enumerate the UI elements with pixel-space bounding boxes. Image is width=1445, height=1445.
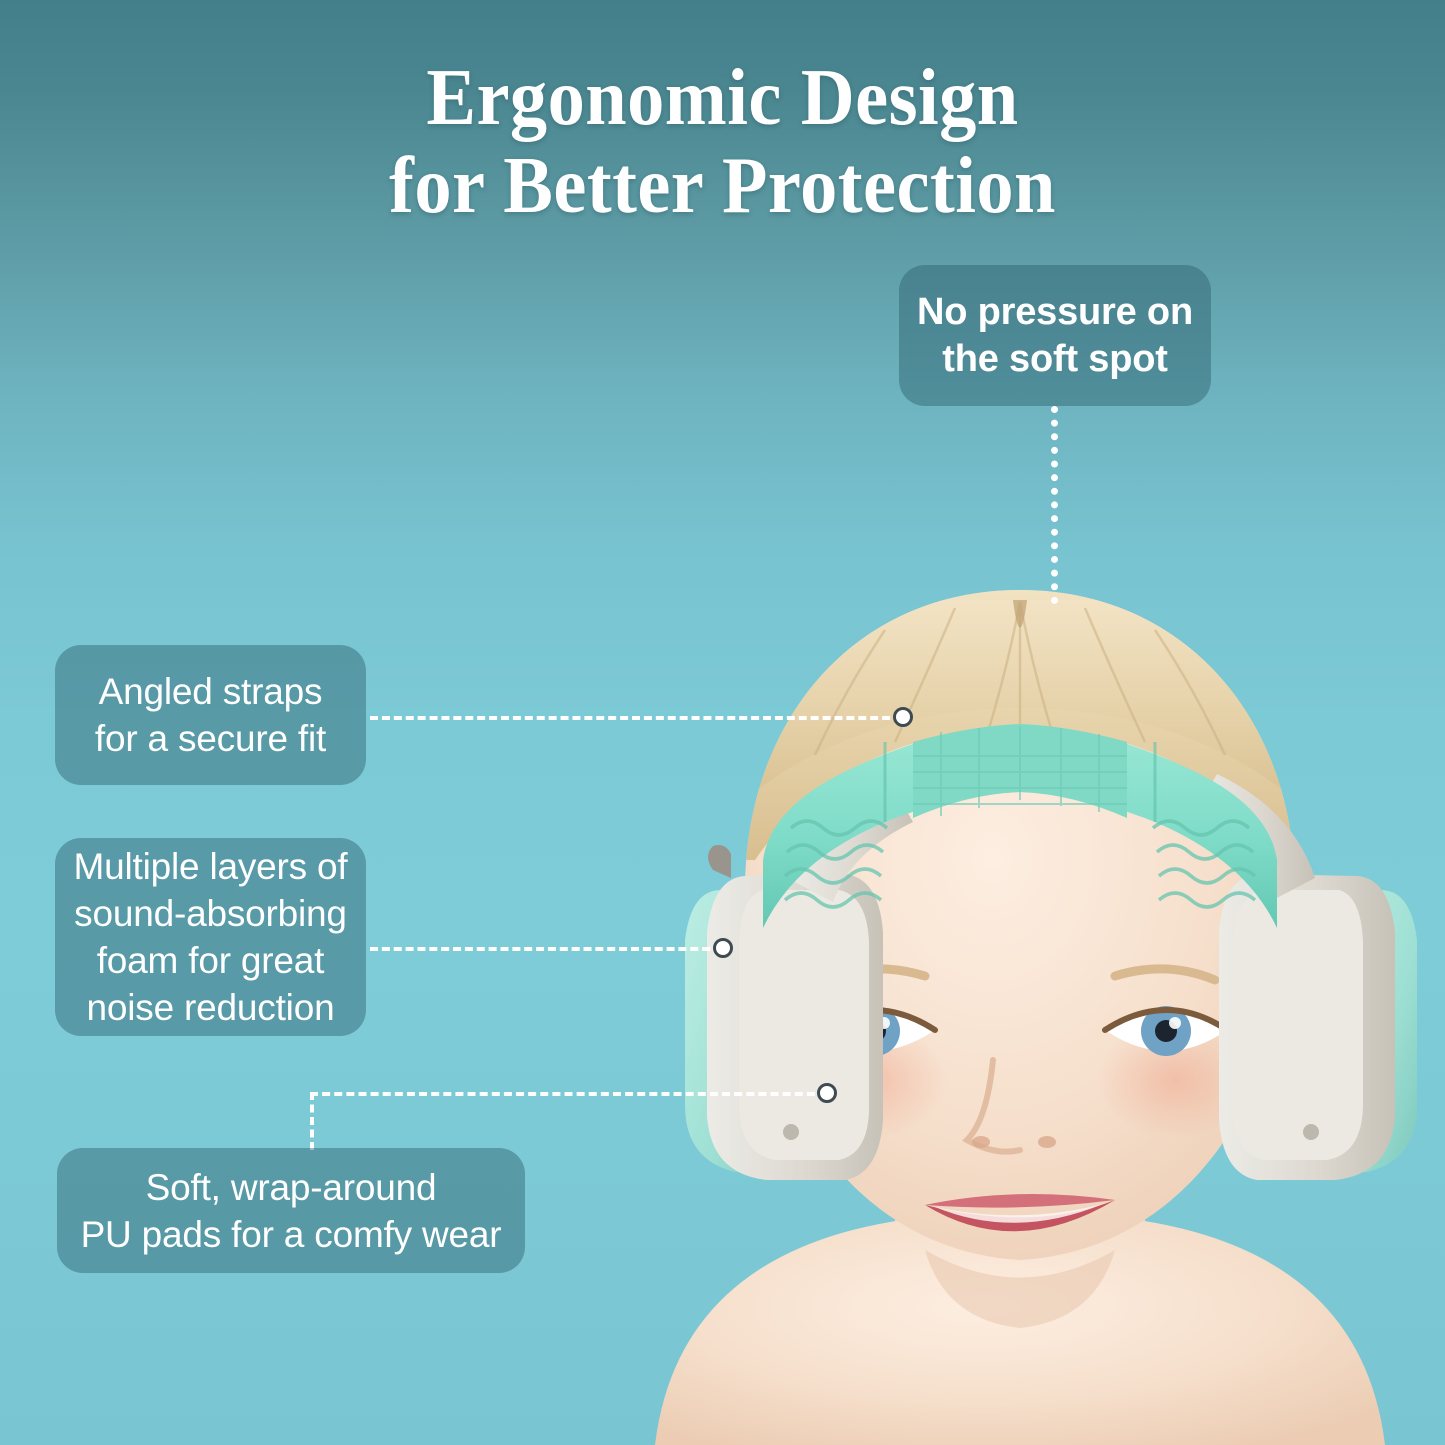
callout-sound-foam: Multiple layers of sound-absorbing foam …	[55, 838, 366, 1036]
callout-angled-straps: Angled straps for a secure fit	[55, 645, 366, 785]
endpoint-angled-straps	[893, 707, 913, 727]
infographic-canvas: Ergonomic Design for Better Protection N…	[0, 0, 1445, 1445]
endpoint-pu-pads	[817, 1083, 837, 1103]
connector-pu-pads-vertical	[310, 1092, 314, 1150]
product-photo	[595, 560, 1445, 1445]
callout-pu-pads: Soft, wrap-around PU pads for a comfy we…	[57, 1148, 525, 1273]
page-title: Ergonomic Design for Better Protection	[51, 54, 1395, 230]
endpoint-sound-foam	[713, 938, 733, 958]
callout-soft-spot: No pressure on the soft spot	[899, 265, 1211, 406]
earmuff-right	[1219, 874, 1417, 1180]
